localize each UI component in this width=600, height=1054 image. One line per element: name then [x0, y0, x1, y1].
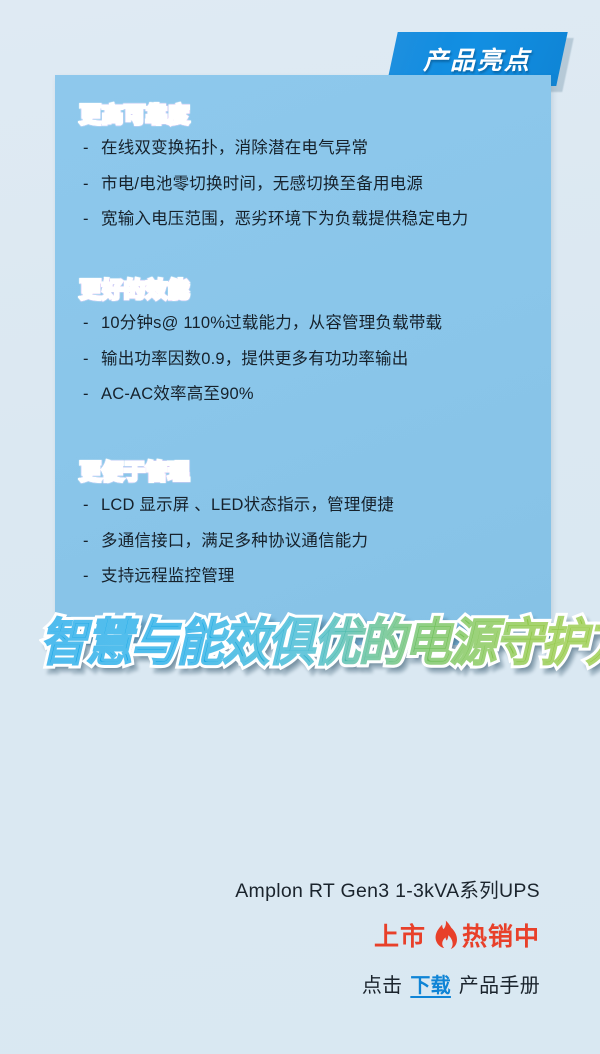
list-item-label: 输出功率因数0.9，提供更多有功功率输出	[101, 350, 408, 368]
feature-list-management: - LCD 显示屏 、LED状态指示，管理便捷 - 多通信接口，满足多种协议通信…	[55, 495, 551, 587]
download-suffix: 产品手册	[459, 975, 540, 997]
list-item-label: AC-AC效率高至90%	[101, 385, 254, 403]
feature-list-performance: - 10分钟s@ 110%过载能力，从容管理负载带载 - 输出功率因数0.9，提…	[55, 313, 551, 405]
list-item-label: LCD 显示屏 、LED状态指示，管理便捷	[101, 496, 394, 514]
feature-section-reliability: 更高可靠度 - 在线双变换拓扑，消除潜在电气异常 - 市电/电池零切换时间，无感…	[55, 103, 551, 245]
bullet-dash: -	[83, 349, 89, 370]
list-item: - 输出功率因数0.9，提供更多有功功率输出	[55, 349, 551, 370]
list-item-label: 市电/电池零切换时间，无感切换至备用电源	[101, 175, 423, 193]
product-highlight-poster: 产品亮点 更高可靠度 - 在线双变换拓扑，消除潜在电气异常 - 市电/电池零切换…	[0, 0, 600, 1054]
flame-icon	[431, 920, 457, 950]
bullet-dash: -	[83, 138, 89, 159]
bullet-dash: -	[83, 209, 89, 230]
list-item: - 宽输入电压范围，恶劣环境下为负载提供稳定电力	[55, 209, 551, 230]
bullet-dash: -	[83, 384, 89, 405]
bullet-dash: -	[83, 313, 89, 334]
hot-sale-badge: 上市 热销中	[0, 917, 540, 953]
list-item: - 支持远程监控管理	[55, 566, 551, 587]
download-prefix: 点击	[362, 975, 403, 997]
feature-section-management: 更便于管理 - LCD 显示屏 、LED状态指示，管理便捷 - 多通信接口，满足…	[55, 460, 551, 602]
features-card: 更高可靠度 - 在线双变换拓扑，消除潜在电气异常 - 市电/电池零切换时间，无感…	[55, 75, 551, 645]
product-name: Amplon RT Gen3 1-3kVA系列UPS	[0, 874, 540, 903]
list-item: - 市电/电池零切换时间，无感切换至备用电源	[55, 174, 551, 195]
list-item: - AC-AC效率高至90%	[55, 384, 551, 405]
list-item: - LCD 显示屏 、LED状态指示，管理便捷	[55, 495, 551, 516]
hot-sale-prefix: 上市	[374, 917, 426, 953]
list-item-label: 支持远程监控管理	[101, 567, 235, 585]
list-item: - 多通信接口，满足多种协议通信能力	[55, 531, 551, 552]
headline-fill-layer: 智慧与能效俱优的电源守护方案	[40, 614, 600, 671]
feature-list-reliability: - 在线双变换拓扑，消除潜在电气异常 - 市电/电池零切换时间，无感切换至备用电…	[55, 138, 551, 230]
list-item-label: 宽输入电压范围，恶劣环境下为负载提供稳定电力	[101, 210, 468, 228]
list-item: - 在线双变换拓扑，消除潜在电气异常	[55, 138, 551, 159]
list-item-label: 10分钟s@ 110%过载能力，从容管理负载带载	[101, 314, 442, 332]
bullet-dash: -	[83, 531, 89, 552]
section-title-management: 更便于管理	[80, 460, 190, 485]
banner-label: 产品亮点	[423, 41, 531, 77]
download-cta: 点击 下载 产品手册	[0, 969, 540, 998]
section-title-reliability: 更高可靠度	[80, 103, 190, 128]
download-link[interactable]: 下载	[408, 975, 453, 997]
bullet-dash: -	[83, 174, 89, 195]
poster-headline: 智慧与能效俱优的电源守护方案 智慧与能效俱优的电源守护方案 智慧与能效俱优的电源…	[40, 617, 560, 668]
list-item-label: 多通信接口，满足多种协议通信能力	[101, 532, 368, 550]
feature-section-performance: 更好的效能 - 10分钟s@ 110%过载能力，从容管理负载带载 - 输出功率因…	[55, 278, 551, 420]
bullet-dash: -	[83, 495, 89, 516]
list-item: - 10分钟s@ 110%过载能力，从容管理负载带载	[55, 313, 551, 334]
bullet-dash: -	[83, 566, 89, 587]
list-item-label: 在线双变换拓扑，消除潜在电气异常	[101, 139, 368, 157]
hot-sale-suffix: 热销中	[462, 917, 540, 953]
section-title-performance: 更好的效能	[80, 278, 190, 303]
